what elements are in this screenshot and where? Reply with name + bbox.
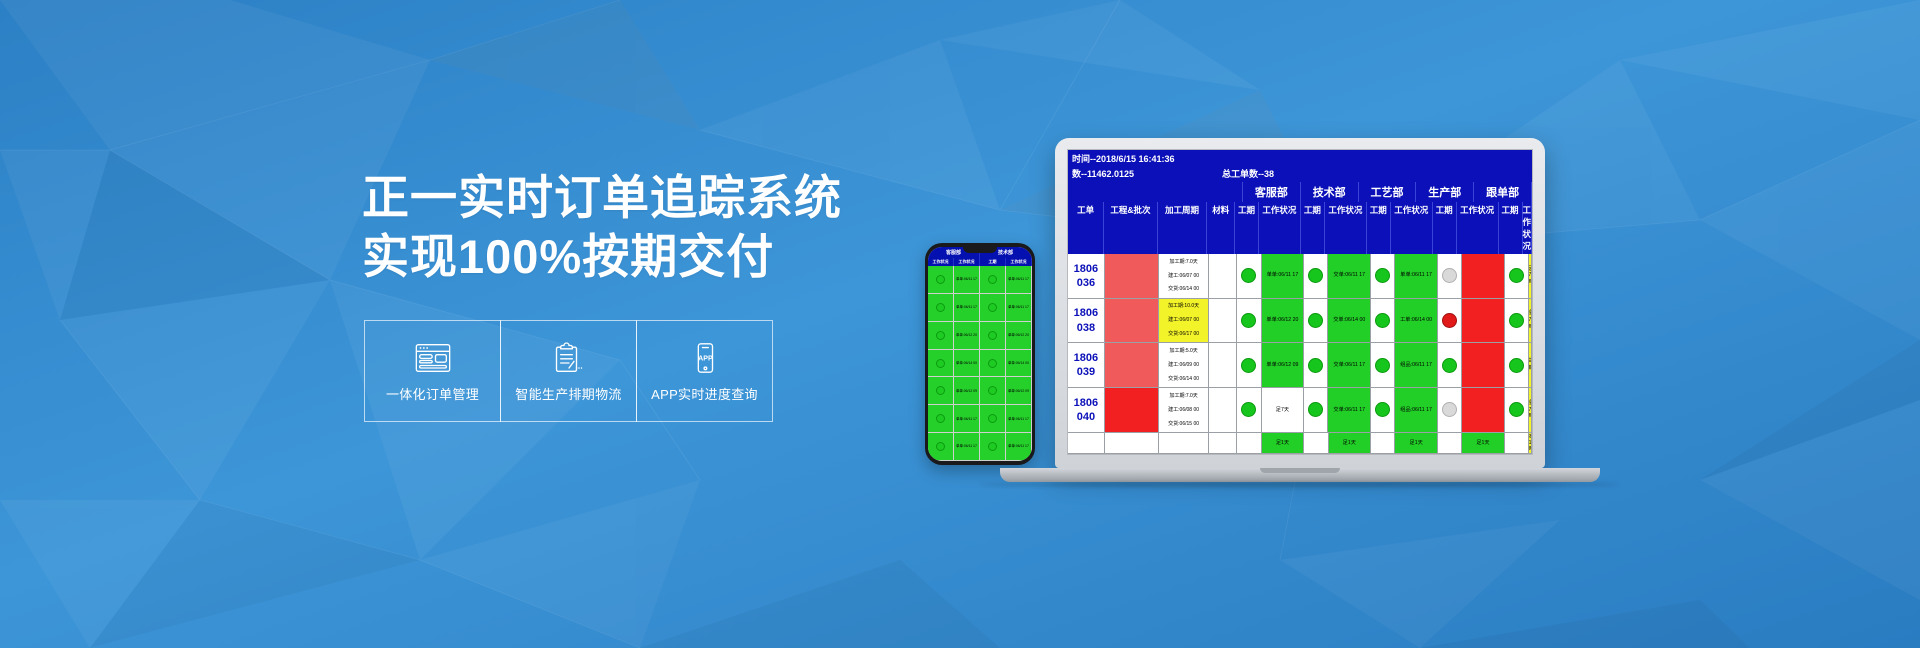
footer-term-3 [1371, 433, 1395, 453]
table-row[interactable]: 1806038 加工期:10.0天 建工:06/07 00 交货:06/17 0… [1068, 299, 1532, 344]
phone-subcol-0: 工作状况 [928, 258, 954, 266]
table-footer-row: 足1天 足1天 足1天 足1天 足1天 [1068, 433, 1532, 454]
phone-status-cell [928, 294, 953, 322]
row-status-1: 单单:06/12 09 [1262, 343, 1305, 387]
status-dot-green [1375, 402, 1390, 417]
row-status-3: 工单:06/14 00 [1395, 299, 1438, 343]
col-status-4[interactable]: 工作状况 [1457, 202, 1499, 254]
phone-status-cell [928, 322, 953, 350]
footer-status-2: 足1天 [1329, 433, 1372, 453]
row-status-1: 单单:06/12 20 [1262, 299, 1305, 343]
phone-subcol-2: 工期 [980, 258, 1006, 266]
phone-text-cell: 单单:06/14 00 [954, 350, 979, 378]
status-dot-green [1308, 268, 1323, 283]
clipboard-edit-icon [549, 339, 589, 377]
row-term-5 [1505, 299, 1529, 343]
row-term-1 [1237, 254, 1261, 298]
dept-spacer [1068, 182, 1243, 202]
row-term-3 [1371, 254, 1395, 298]
status-dot-green [1509, 402, 1524, 417]
status-dot-green [1509, 313, 1524, 328]
row-status-3: 单单:06/11 17 [1395, 254, 1438, 298]
row-cycle: 加工期:5.0天 建工:06/09 00 交货:06/14 00 [1159, 343, 1209, 387]
row-status-1: 单单:06/11 17 [1262, 254, 1305, 298]
status-dot-green [1308, 313, 1323, 328]
footer-status-1: 足1天 [1262, 433, 1305, 453]
row-status-3: 组品:06/11 17 [1395, 343, 1438, 387]
phone-column-status-2 [980, 266, 1006, 461]
row-status-4 [1462, 388, 1505, 432]
footer-material [1209, 433, 1237, 453]
dashboard-window-icon [413, 339, 453, 377]
dashboard-topbar: 时间--2018/6/15 16:41:36 数--11462.0125 总工单… [1068, 150, 1532, 182]
row-status-1: 足7天 [1262, 388, 1305, 432]
dashboard-topbar-row-2: 数--11462.0125 总工单数--38 [1068, 166, 1532, 181]
footer-status-4: 足1天 [1462, 433, 1505, 453]
laptop-lid: 时间--2018/6/15 16:41:36 数--11462.0125 总工单… [1055, 138, 1545, 468]
phone-text-cell: 单单:06/11 17 [954, 294, 979, 322]
row-project [1105, 254, 1159, 298]
phone-status-cell [980, 266, 1005, 294]
status-dot-grey [1442, 268, 1457, 283]
status-dot-green [1308, 358, 1323, 373]
phone-column-text-1: 单单:06/11 17 单单:06/11 17 单单:06/12 20 单单:0… [954, 266, 980, 461]
row-term-2 [1304, 299, 1328, 343]
phone-status-cell [980, 405, 1005, 433]
status-dot-green [988, 414, 997, 423]
col-term-1[interactable]: 工期 [1235, 202, 1259, 254]
col-status-1[interactable]: 工作状况 [1259, 202, 1301, 254]
row-project [1105, 388, 1159, 432]
cycle-line-3: 交货:06/17 00 [1168, 331, 1199, 338]
row-term-4 [1438, 254, 1462, 298]
row-project [1105, 343, 1159, 387]
phone-subcol-3: 工作状况 [1006, 258, 1032, 266]
footer-project [1105, 433, 1159, 453]
dashboard-column-header: 工单 工程&批次 加工周期 材料 工期 工作状况 工期 工作状况 工期 工作状况… [1068, 202, 1532, 254]
row-cycle: 加工期:7.0天 建工:06/08 00 交货:06/15 00 [1159, 388, 1209, 432]
status-dot-green [1241, 358, 1256, 373]
cycle-line-3: 交货:06/14 00 [1168, 286, 1199, 293]
cycle-line-2: 建工:06/08 00 [1168, 407, 1199, 414]
row-order-number: 1806036 [1068, 254, 1105, 298]
status-dot-green [1375, 313, 1390, 328]
status-dot-green [1509, 358, 1524, 373]
promo-banner: 正一实时订单追踪系统 实现100%按期交付 一体化订单管理 [0, 0, 1920, 648]
svg-text:APP: APP [698, 355, 713, 363]
row-term-3 [1371, 388, 1395, 432]
dashboard-topbar-row-1: 时间--2018/6/15 16:41:36 [1068, 151, 1532, 166]
row-term-3 [1371, 343, 1395, 387]
phone-subcol-1: 工作状况 [954, 258, 980, 266]
status-dot-green [988, 386, 997, 395]
feature-label-production-scheduling: 智能生产排期物流 [515, 384, 621, 403]
status-dot-green [936, 414, 945, 423]
phone-column-status-1 [928, 266, 954, 461]
footer-term-1 [1237, 433, 1261, 453]
status-dot-green [936, 275, 945, 284]
phone-text-cell: 单单:06/11 17 [1006, 266, 1031, 294]
dashboard-count-label: 数--11462.0125 [1072, 167, 1222, 180]
row-status-3: 组品:06/11 17 [1395, 388, 1438, 432]
phone-text-cell: 单单:06/12 20 [1006, 322, 1031, 350]
col-status-5[interactable]: 工作状况 [1523, 202, 1533, 254]
phone-status-cell [928, 433, 953, 461]
cycle-line-1: 加工期:10.0天 [1168, 303, 1199, 310]
phone-screen: 客服部 技术部 工作状况 工作状况 工期 工作状况 [928, 247, 1032, 461]
row-status-5: 超7天 [1529, 388, 1532, 432]
status-dot-green [1442, 358, 1457, 373]
cycle-line-2: 建工:06/09 00 [1168, 362, 1199, 369]
feature-label-order-management: 一体化订单管理 [386, 384, 479, 403]
mobile-app-icon: APP [685, 339, 725, 377]
dept-process[interactable]: 工艺部 [1359, 182, 1417, 202]
col-term-3[interactable]: 工期 [1367, 202, 1391, 254]
cycle-line-3: 交货:06/14 00 [1168, 376, 1199, 383]
cycle-line-3: 交货:06/15 00 [1168, 421, 1199, 428]
footer-order [1068, 433, 1105, 453]
row-term-2 [1304, 343, 1328, 387]
phone-status-cell [980, 294, 1005, 322]
dept-followup[interactable]: 跟单部 [1474, 182, 1532, 202]
cycle-line-2: 建工:06/07 00 [1168, 317, 1199, 324]
phone-status-cell [928, 266, 953, 294]
phone-text-cell: 单单:06/12 09 [954, 377, 979, 405]
row-status-4 [1462, 254, 1505, 298]
feature-box-group: 一体化订单管理 智能生产排期物流 APP A [364, 320, 772, 422]
status-dot-green [1241, 268, 1256, 283]
row-status-4 [1462, 299, 1505, 343]
row-cycle: 加工期:7.0天 建工:06/07 00 交货:06/14 00 [1159, 254, 1209, 298]
status-dot-green [1509, 268, 1524, 283]
row-term-4 [1438, 388, 1462, 432]
col-cycle[interactable]: 加工周期 [1158, 202, 1208, 254]
phone-text-cell: 单单:06/11 17 [954, 266, 979, 294]
status-dot-green [936, 359, 945, 368]
phone-text-cell: 单单:06/14 00 [1006, 350, 1031, 378]
row-status-5: 超7天 [1529, 299, 1532, 343]
row-term-1 [1237, 299, 1261, 343]
col-status-2[interactable]: 工作状况 [1325, 202, 1367, 254]
headline-line-1: 正一实时订单追踪系统 [362, 168, 922, 227]
headline-line-2: 实现100%按期交付 [362, 227, 922, 286]
row-term-1 [1237, 343, 1261, 387]
phone-text-cell: 单单:06/11 17 [954, 433, 979, 461]
row-status-2: 交单:06/14 00 [1328, 299, 1371, 343]
dashboard-rows: 1806036 加工期:7.0天 建工:06/07 00 交货:06/14 00… [1068, 254, 1532, 454]
status-dot-green [988, 275, 997, 284]
footer-status-5: 足1天 [1529, 433, 1532, 453]
col-term-5[interactable]: 工期 [1499, 202, 1523, 254]
phone-notch [963, 247, 997, 253]
status-dot-green [936, 442, 945, 451]
phone-text-cell: 单单:06/12 09 [1006, 377, 1031, 405]
phone-status-cell [928, 405, 953, 433]
feature-box-app-tracking[interactable]: APP APP实时进度查询 [636, 320, 773, 422]
laptop-mockup: 时间--2018/6/15 16:41:36 数--11462.0125 总工单… [1055, 138, 1620, 487]
status-dot-green [988, 359, 997, 368]
row-term-3 [1371, 299, 1395, 343]
status-dot-green [988, 442, 997, 451]
table-row[interactable]: 1806040 加工期:7.0天 建工:06/08 00 交货:06/15 00… [1068, 388, 1532, 433]
row-status-5: 足7天 [1529, 254, 1532, 298]
row-term-5 [1505, 254, 1529, 298]
status-dot-green [1241, 313, 1256, 328]
phone-text-cell: 单单:06/11 17 [1006, 433, 1031, 461]
status-dot-green [988, 331, 997, 340]
dashboard-department-header: 客服部 技术部 工艺部 生产部 跟单部 [1068, 182, 1532, 202]
smartphone-mockup: 客服部 技术部 工作状况 工作状况 工期 工作状况 [925, 243, 1035, 465]
col-term-2[interactable]: 工期 [1301, 202, 1325, 254]
row-term-1 [1237, 388, 1261, 432]
row-term-5 [1505, 343, 1529, 387]
phone-text-cell: 单单:06/11 17 [954, 405, 979, 433]
feature-box-order-management[interactable]: 一体化订单管理 [364, 320, 501, 422]
status-dot-green [988, 303, 997, 312]
row-term-4 [1438, 343, 1462, 387]
status-dot-green [1375, 358, 1390, 373]
phone-status-cell [980, 322, 1005, 350]
col-status-3[interactable]: 工作状况 [1391, 202, 1433, 254]
status-dot-red [1442, 313, 1457, 328]
cycle-line-1: 加工期:7.0天 [1169, 393, 1197, 400]
row-order-number: 1806040 [1068, 388, 1105, 432]
row-material [1209, 254, 1237, 298]
row-term-5 [1505, 388, 1529, 432]
col-order[interactable]: 工单 [1068, 202, 1104, 254]
row-term-2 [1304, 388, 1328, 432]
dashboard-time-label: 时间--2018/6/15 16:41:36 [1072, 152, 1222, 165]
dept-technical[interactable]: 技术部 [1301, 182, 1359, 202]
phone-text-cell: 单单:06/11 17 [1006, 294, 1031, 322]
laptop-screen: 时间--2018/6/15 16:41:36 数--11462.0125 总工单… [1067, 149, 1533, 455]
col-project[interactable]: 工程&批次 [1104, 202, 1157, 254]
phone-grid: 单单:06/11 17 单单:06/11 17 单单:06/12 20 单单:0… [928, 266, 1032, 461]
laptop-base [1000, 468, 1600, 482]
row-status-2: 交单:06/11 17 [1328, 343, 1371, 387]
status-dot-grey [1442, 402, 1457, 417]
row-term-4 [1438, 299, 1462, 343]
row-status-2: 交单:06/11 17 [1328, 388, 1371, 432]
table-row[interactable]: 1806036 加工期:7.0天 建工:06/07 00 交货:06/14 00… [1068, 254, 1532, 299]
status-dot-green [936, 303, 945, 312]
row-project [1105, 299, 1159, 343]
status-dot-green [936, 331, 945, 340]
cycle-line-1: 加工期:7.0天 [1169, 259, 1197, 266]
footer-term-2 [1304, 433, 1328, 453]
row-term-2 [1304, 254, 1328, 298]
footer-cycle [1159, 433, 1209, 453]
cycle-line-1: 加工期:5.0天 [1169, 348, 1197, 355]
cycle-line-2: 建工:06/07 00 [1168, 273, 1199, 280]
col-material[interactable]: 材料 [1207, 202, 1235, 254]
phone-status-cell [980, 433, 1005, 461]
row-order-number: 1806038 [1068, 299, 1105, 343]
footer-term-4 [1438, 433, 1462, 453]
status-dot-green [936, 386, 945, 395]
phone-subheader: 工作状况 工作状况 工期 工作状况 [928, 258, 1032, 266]
headline-block: 正一实时订单追踪系统 实现100%按期交付 [362, 168, 922, 286]
row-material [1209, 388, 1237, 432]
phone-text-cell: 单单:06/11 17 [1006, 405, 1031, 433]
table-row[interactable]: 1806039 加工期:5.0天 建工:06/09 00 交货:06/14 00… [1068, 343, 1532, 388]
phone-column-text-2: 单单:06/11 17 单单:06/11 17 单单:06/12 20 单单:0… [1006, 266, 1032, 461]
feature-box-production-scheduling[interactable]: 智能生产排期物流 [500, 320, 637, 422]
status-dot-green [1308, 402, 1323, 417]
col-term-4[interactable]: 工期 [1433, 202, 1457, 254]
phone-status-cell [928, 350, 953, 378]
feature-label-app-tracking: APP实时进度查询 [651, 384, 758, 403]
status-dot-green [1241, 402, 1256, 417]
row-material [1209, 299, 1237, 343]
row-status-4 [1462, 343, 1505, 387]
dept-production[interactable]: 生产部 [1416, 182, 1474, 202]
row-status-2: 交单:06/11 17 [1328, 254, 1371, 298]
footer-term-5 [1505, 433, 1529, 453]
dashboard-total-orders-label: 总工单数--38 [1222, 167, 1274, 180]
phone-status-cell [980, 377, 1005, 405]
row-status-5: 交单 [1529, 343, 1532, 387]
status-dot-green [1375, 268, 1390, 283]
dept-customer-service[interactable]: 客服部 [1243, 182, 1301, 202]
footer-status-3: 足1天 [1395, 433, 1438, 453]
laptop-shadow [980, 482, 1620, 487]
row-order-number: 1806039 [1068, 343, 1105, 387]
phone-status-cell [928, 377, 953, 405]
row-material [1209, 343, 1237, 387]
phone-text-cell: 单单:06/12 20 [954, 322, 979, 350]
row-cycle: 加工期:10.0天 建工:06/07 00 交货:06/17 00 [1159, 299, 1209, 343]
phone-status-cell [980, 350, 1005, 378]
